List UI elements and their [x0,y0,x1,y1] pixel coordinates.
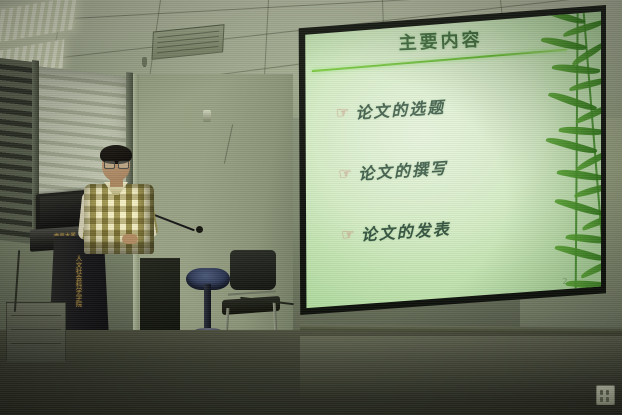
bamboo-decoration [509,5,606,312]
list-item-label: 论文的选题 [354,94,445,124]
projection-screen: 主要内容 ☞ 论文的选题 ☞ 论文的撰写 ☞ 论文的发表 2 [294,5,606,315]
presenter [80,148,176,258]
list-item-label: 论文的发表 [360,215,451,245]
pointing-hand-icon: ☞ [338,166,352,182]
power-outlet-icon [596,385,615,405]
pointing-hand-icon: ☞ [335,105,349,121]
stool-post [204,284,211,332]
window-blinds-dark-panel [0,58,32,244]
chair-back-support [228,290,276,295]
podium-vertical-text: 人文社会科学学院 [70,255,82,307]
lecture-room-photo: 主要内容 ☞ 论文的选题 ☞ 论文的撰写 ☞ 论文的发表 2 [0,0,622,415]
list-item-label: 论文的撰写 [357,155,448,185]
chair-back [230,250,276,290]
sprinkler-head-icon [142,57,147,66]
wall-fixture-icon [203,110,211,122]
microphone-head-icon [196,226,203,233]
monitor-screen [40,193,84,224]
eyeglasses-icon [104,161,129,167]
pointing-hand-icon: ☞ [341,227,355,243]
floor-reflection [300,336,622,415]
presenter-hand [122,234,138,244]
